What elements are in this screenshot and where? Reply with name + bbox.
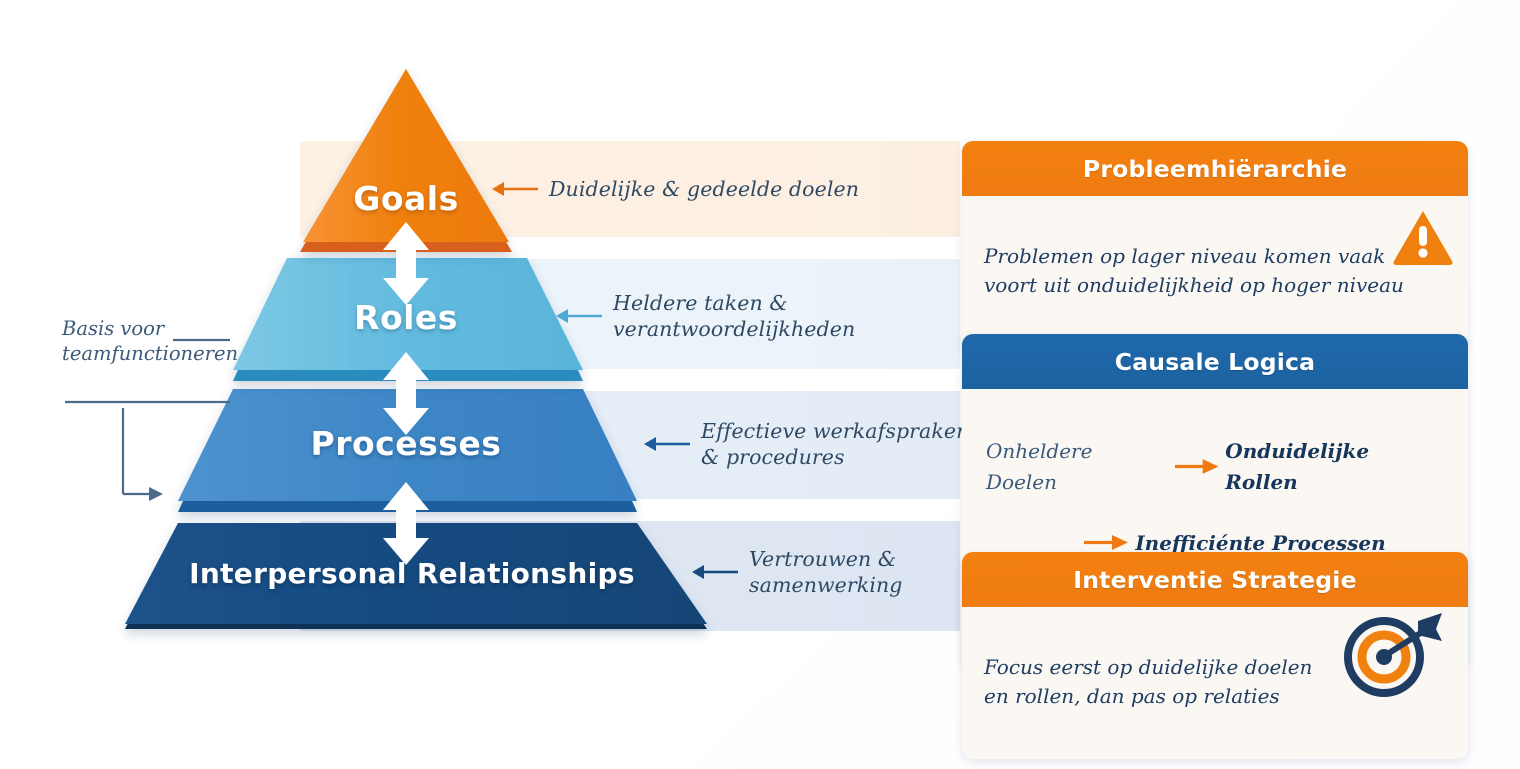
causal-to-1: Onduidelijke Rollen [1225,436,1446,497]
card-causal-title: Causale Logica [962,334,1468,389]
card-strategy-body: Focus eerst op duidelijke doelen en roll… [962,607,1468,759]
pyramid-label-roles: Roles [354,298,458,337]
annotation-relations-text: Vertrouwen & samenwerking [749,546,903,598]
causal-from-1: Onheldere Doelen [986,436,1168,497]
annotation-goals: Duidelijke & gedeelde doelen [492,176,859,202]
card-probleemhierarchie[interactable]: Probleemhiërarchie Problemen op lager ni… [962,141,1468,348]
annotation-relations: Vertrouwen & samenwerking [692,546,903,598]
pyramid-label-processes: Processes [311,424,502,463]
pyramid-label-relations: Interpersonal Relationships [189,557,635,590]
annotation-arrow-goals [492,181,538,197]
left-note-text: Basis voor teamfunctioneren [62,316,247,367]
annotation-goals-text: Duidelijke & gedeelde doelen [549,176,859,202]
annotation-processes-text: Effectieve werkafspraken & procedures [701,418,969,470]
card-problem-body: Problemen op lager niveau komen vaak voo… [962,196,1468,348]
card-problem-title: Probleemhiërarchie [962,141,1468,196]
card-interventie-strategie[interactable]: Interventie Strategie Focus eerst op dui… [962,552,1468,759]
warning-triangle-icon [1392,208,1454,266]
annotation-arrow-roles [556,308,602,324]
causal-row-1: Onheldere Doelen Onduidelijke Rollen [984,436,1446,497]
annotation-roles-text: Heldere taken & verantwoordelijkheden [613,290,855,342]
card-strategy-text: Focus eerst op duidelijke doelen en roll… [984,655,1312,708]
card-problem-text: Problemen op lager niveau komen vaak voo… [984,244,1404,297]
pyramid-label-goals: Goals [353,179,458,218]
diagram-canvas: Goals Roles Processes Interpersonal Rela… [0,0,1520,769]
card-strategy-title: Interventie Strategie [962,552,1468,607]
annotation-arrow-processes [644,436,690,452]
causal-arrow-2 [1084,535,1128,550]
target-arrow-icon [1338,611,1446,703]
annotation-roles: Heldere taken & verantwoordelijkheden [556,290,855,342]
annotation-arrow-relations [692,564,738,580]
causal-arrow-1 [1175,459,1219,474]
annotation-processes: Effectieve werkafspraken & procedures [644,418,969,470]
